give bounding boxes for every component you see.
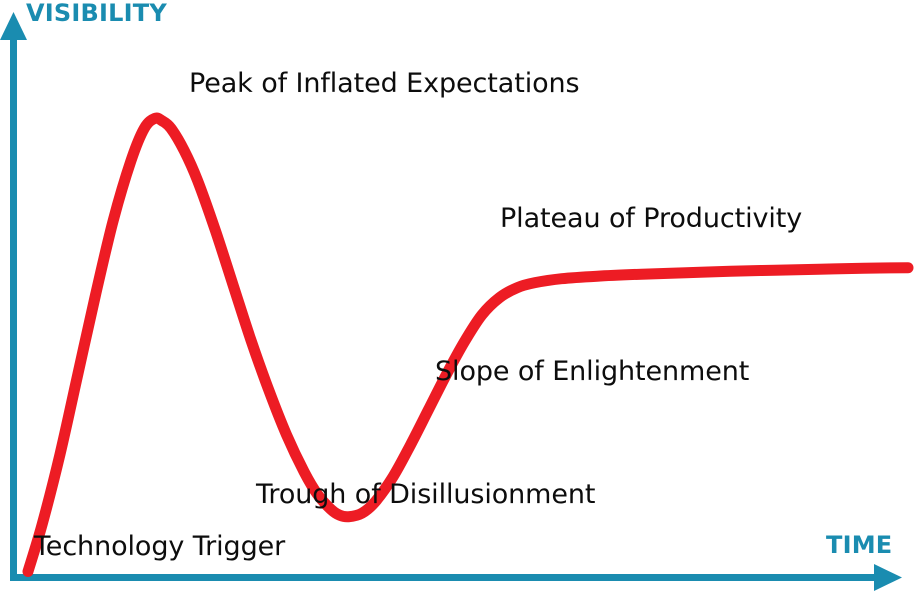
label-trough-of-disillusionment: Trough of Disillusionment xyxy=(256,481,595,508)
hype-cycle-figure: Peak of Inflated Expectations Plateau of… xyxy=(0,0,915,594)
label-slope-of-enlightenment: Slope of Enlightenment xyxy=(435,358,749,385)
label-technology-trigger: Technology Trigger xyxy=(34,533,285,560)
x-axis-label: TIME xyxy=(826,533,892,557)
x-axis-arrow-icon xyxy=(874,564,902,591)
y-axis-arrow-icon xyxy=(0,12,27,40)
y-axis-label: VISIBILITY xyxy=(26,1,167,25)
label-peak-of-inflated-expectations: Peak of Inflated Expectations xyxy=(189,70,580,97)
label-plateau-of-productivity: Plateau of Productivity xyxy=(500,205,802,232)
